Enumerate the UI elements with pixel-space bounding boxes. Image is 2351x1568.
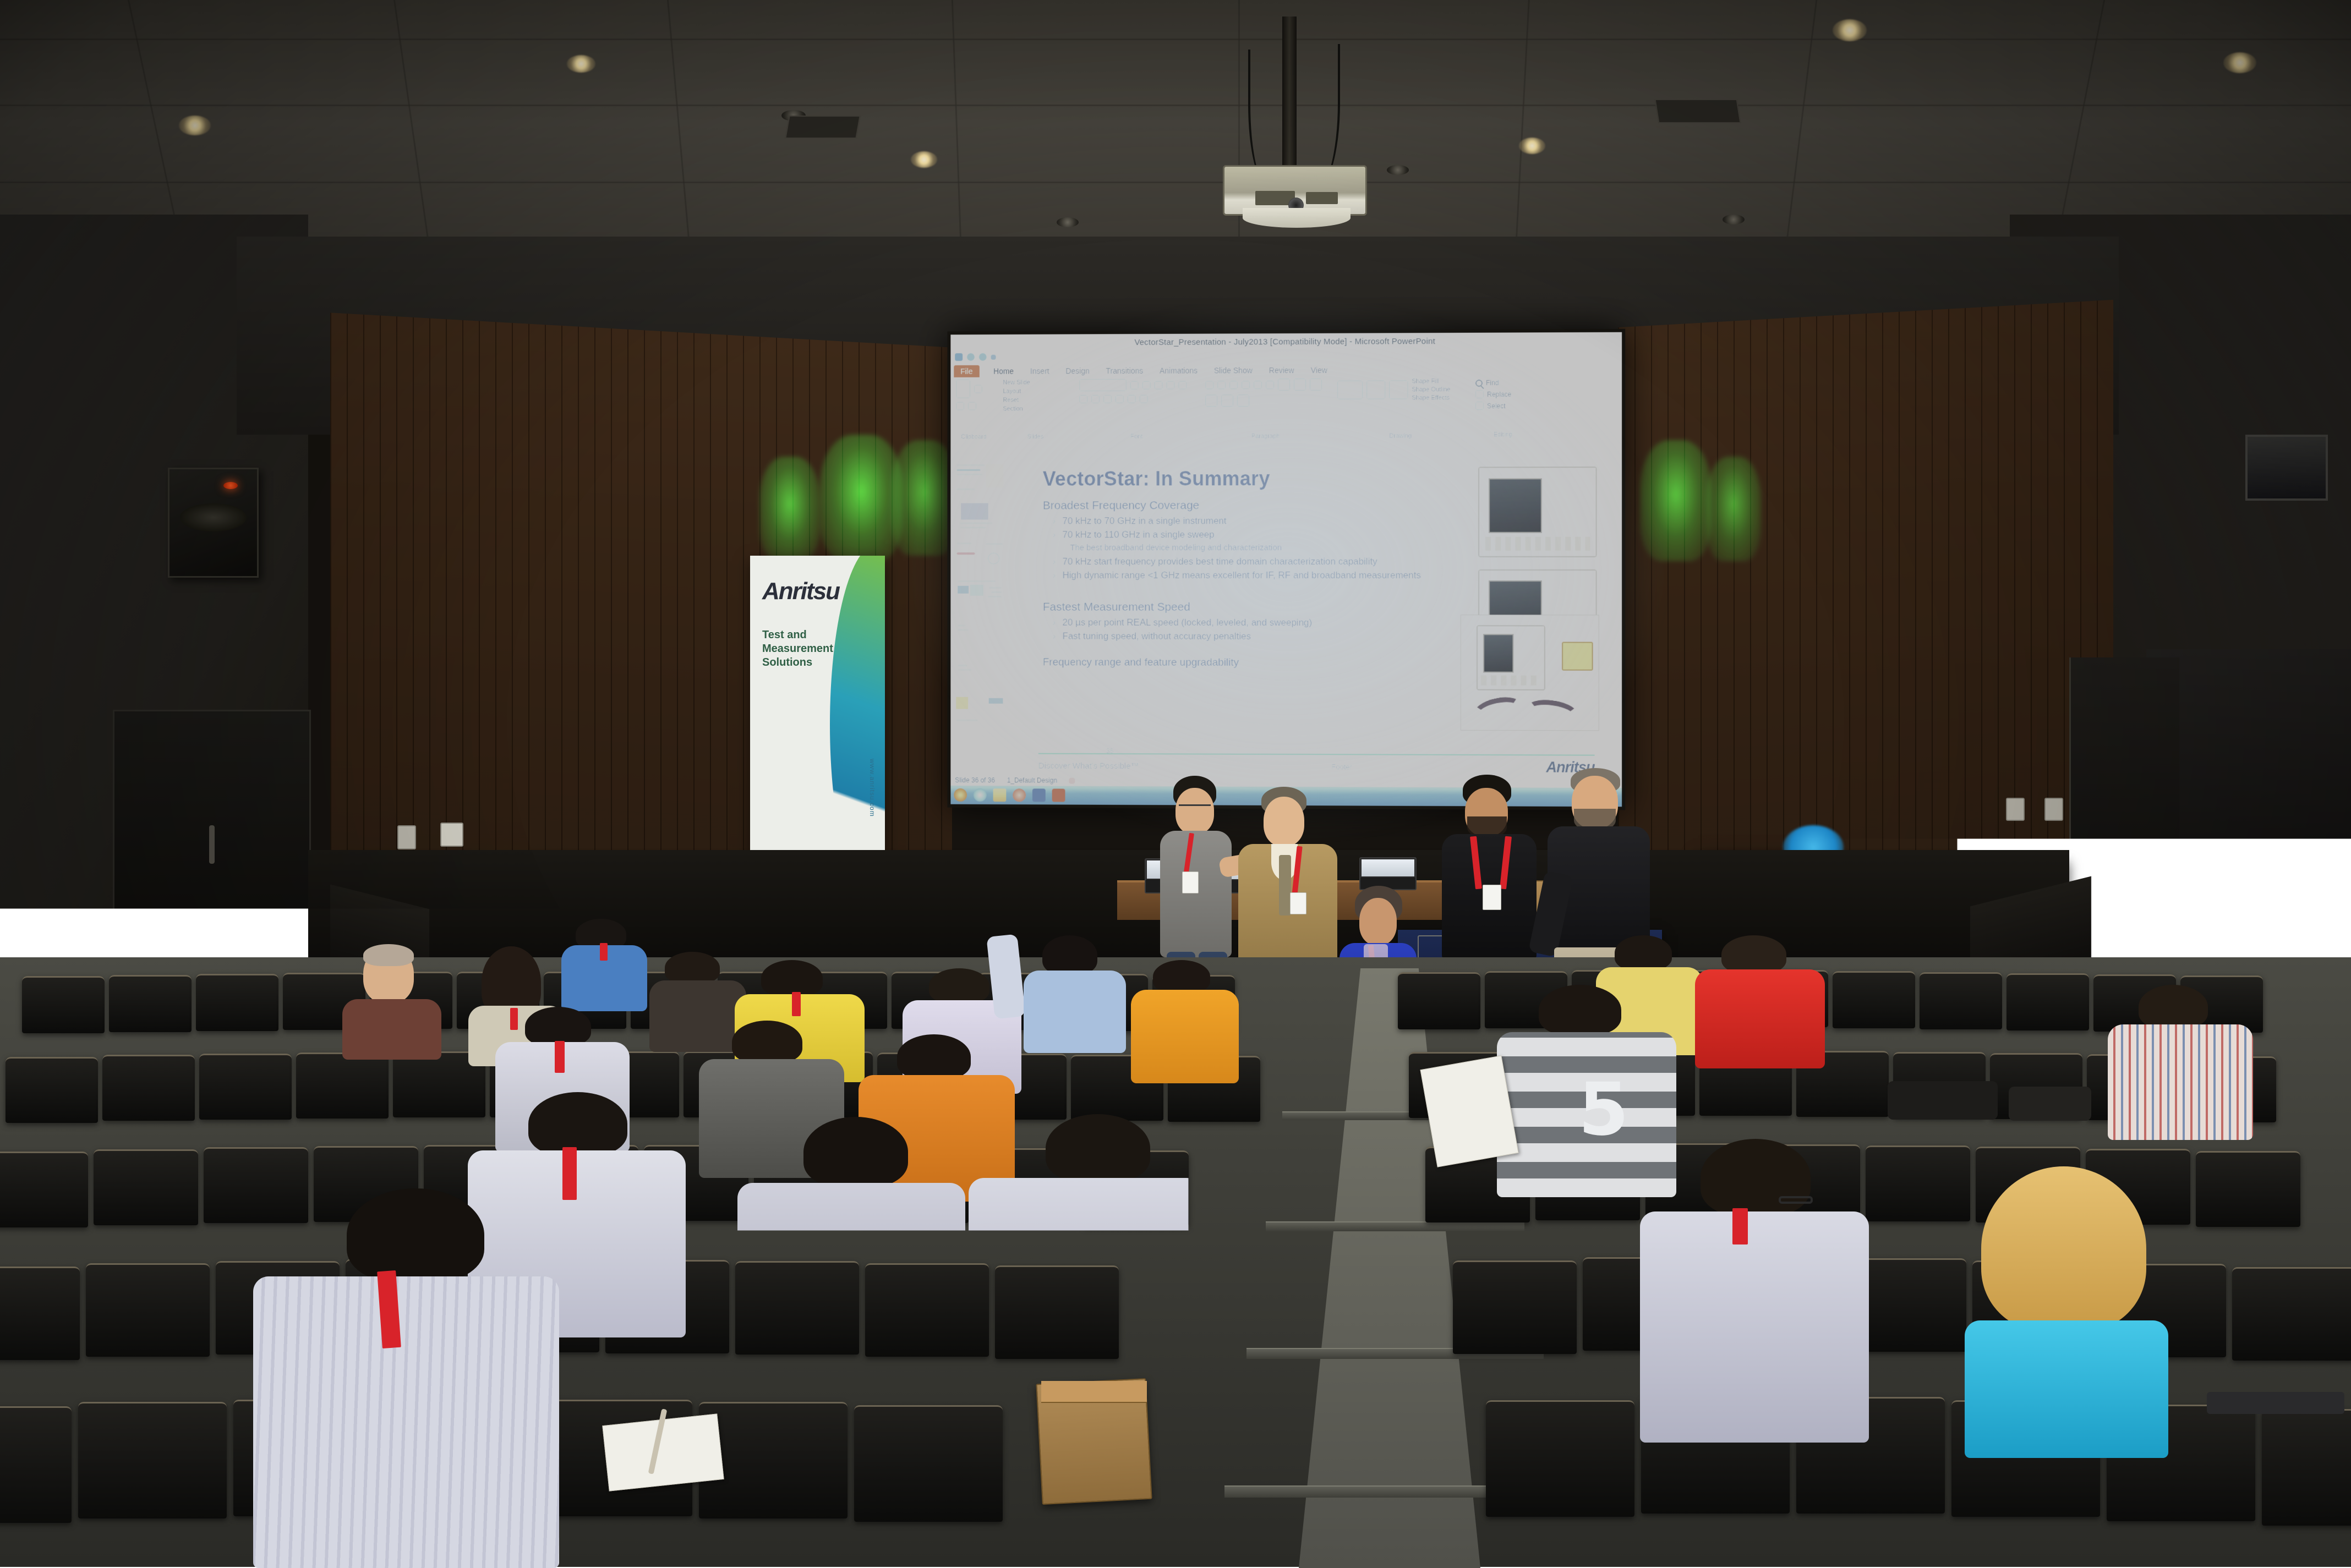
instrument-display [1489, 479, 1542, 534]
slide-thumbnail[interactable] [953, 538, 1007, 572]
hair [1042, 935, 1097, 975]
green-light-reflection [820, 435, 903, 561]
ribbon-group-label: Clipboard [956, 434, 991, 440]
ribbon-group-label: Drawing [1337, 432, 1464, 440]
tab-animations[interactable]: Animations [1157, 365, 1200, 377]
font-color-icon[interactable] [1140, 395, 1148, 403]
powerpoint-title-bar: VectorStar_Presentation - July2013 [Comp… [950, 332, 1622, 351]
hair [761, 960, 823, 996]
instrument-ports [1485, 537, 1590, 551]
hair [1153, 960, 1210, 993]
seat[interactable] [2262, 1409, 2351, 1526]
cut-icon[interactable] [974, 385, 982, 393]
laptop[interactable] [1359, 857, 1417, 890]
projection-screen: VectorStar_Presentation - July2013 [Comp… [947, 329, 1625, 810]
seat[interactable] [854, 1405, 1003, 1522]
ceiling-downlight [1387, 165, 1409, 175]
head [1264, 797, 1304, 846]
spellcheck-icon[interactable] [1069, 777, 1075, 783]
format-painter-icon[interactable] [968, 402, 976, 410]
test-cable [1524, 697, 1580, 728]
calibration-kit [1562, 642, 1593, 671]
test-cable [1471, 693, 1525, 727]
quick-styles-icon[interactable] [1389, 380, 1408, 399]
underline-icon[interactable] [1079, 395, 1087, 403]
lanyard [555, 1041, 565, 1073]
wood-paneling-right [1618, 300, 2113, 889]
lanyard [562, 1147, 577, 1200]
redo-icon[interactable] [979, 353, 987, 361]
ceiling-light [179, 116, 211, 135]
speaker-cone [180, 503, 247, 531]
anritsu-light-banner: Anritsu Test and Measurement Solutions w… [750, 556, 885, 856]
papers-on-table[interactable] [32, 930, 98, 946]
outlook-icon[interactable] [1032, 788, 1046, 802]
seat[interactable] [2006, 973, 2089, 1030]
tab-view[interactable]: View [1309, 364, 1330, 376]
seat[interactable] [0, 1406, 72, 1523]
instrument-keypad [1514, 634, 1540, 673]
audience-member [1695, 935, 1827, 1073]
hair [1539, 985, 1621, 1035]
cabinet-handle[interactable] [209, 825, 215, 864]
shapes-gallery-icon[interactable] [1337, 381, 1363, 399]
badge [1290, 892, 1306, 914]
slide-thumbnail[interactable] [953, 460, 1007, 494]
chevron-down-icon[interactable] [991, 354, 996, 359]
ribbon-group-editing[interactable]: Find Replace Select Editing [1470, 376, 1537, 442]
wall-outlet-right[interactable] [2044, 798, 2063, 821]
lanyard [1732, 1208, 1748, 1244]
head [1359, 898, 1397, 945]
replace-button[interactable]: Replace [1475, 390, 1530, 398]
seat[interactable] [1920, 972, 2002, 1029]
tab-design[interactable]: Design [1063, 365, 1091, 377]
footer-placeholder: Footer [1287, 761, 1397, 773]
ceiling-light [2223, 52, 2256, 73]
slide-thumbnail[interactable] [953, 693, 1007, 727]
hair [1721, 935, 1786, 974]
tab-insert[interactable]: Insert [1028, 365, 1052, 377]
undo-icon[interactable] [967, 353, 975, 361]
shape-effects-label[interactable]: Shape Effects [1412, 394, 1450, 401]
ribbon-group-label: Paragraph [1205, 433, 1326, 440]
wall-outlet[interactable] [397, 825, 416, 849]
glasses-icon [1179, 804, 1211, 810]
auditorium-scene: VectorStar_Presentation - July2013 [Comp… [0, 0, 2351, 1567]
hair [1615, 935, 1672, 971]
torso [1640, 1211, 1869, 1443]
speaker-power-led [223, 482, 238, 489]
find-label: Find [1486, 379, 1499, 387]
lanyard [600, 943, 608, 961]
audience-member-foreground [737, 1117, 969, 1392]
laptop-on-seat[interactable] [2207, 1392, 2344, 1414]
audience-member [2108, 985, 2256, 1144]
section-label[interactable]: Section [1003, 405, 1023, 412]
shrink-font-icon[interactable] [1155, 381, 1163, 389]
green-light-reflection [1640, 440, 1712, 561]
bag-on-seat[interactable] [2009, 1087, 2091, 1121]
seat[interactable] [1486, 1400, 1634, 1517]
shape-fill-label[interactable]: Shape Fill [1412, 378, 1450, 385]
italic-icon[interactable] [1178, 381, 1187, 389]
instrument-display [1483, 634, 1514, 673]
current-slide[interactable]: VectorStar: In Summary Broadest Frequenc… [1024, 452, 1610, 782]
torso [1131, 990, 1239, 1083]
ribbon-group-font[interactable]: Font [1074, 376, 1200, 442]
numbering-icon[interactable] [1217, 381, 1226, 389]
browser-icon[interactable] [974, 788, 987, 802]
badge [1182, 871, 1199, 893]
torso [342, 999, 441, 1060]
torso [1160, 831, 1232, 957]
bold-icon[interactable] [1166, 381, 1174, 389]
glasses-icon [1779, 1196, 1813, 1204]
shadow-icon[interactable] [1091, 395, 1100, 403]
hair [929, 968, 989, 1004]
ribbon-group-label: Editing [1475, 431, 1530, 438]
seat[interactable] [1453, 1260, 1577, 1354]
wall-outlet-right[interactable] [2006, 798, 2025, 821]
seat[interactable] [1398, 972, 1480, 1029]
ribbon[interactable]: Clipboard New Slide Layout Reset Section… [950, 375, 1622, 443]
audience-member [1024, 935, 1128, 1062]
seat[interactable] [86, 1263, 210, 1357]
powerpoint-icon[interactable] [1052, 789, 1065, 802]
media-icon[interactable] [1013, 788, 1026, 802]
head [1175, 788, 1214, 834]
seat[interactable] [0, 1152, 88, 1227]
slide-counter: Slide 36 of 36 [955, 776, 995, 784]
search-icon [1475, 379, 1483, 386]
select-icon [1475, 402, 1484, 410]
start-orb-icon[interactable] [954, 788, 967, 802]
tab-transitions[interactable]: Transitions [1104, 365, 1146, 377]
wall-speaker [168, 468, 259, 578]
thumbnail-pane-header [953, 446, 1007, 455]
instrument-front [1477, 625, 1545, 690]
green-light-reflection [1706, 457, 1761, 561]
wall-outlet[interactable] [440, 823, 463, 847]
ceiling-downlight [1057, 217, 1079, 227]
theme-name: 1_Default Design [1007, 776, 1057, 784]
seat[interactable] [296, 1052, 389, 1119]
green-light-reflection [759, 457, 820, 561]
audience-member-foreground [969, 1114, 1205, 1400]
strikethrough-icon[interactable] [1103, 395, 1112, 403]
ceiling-downlight [1723, 215, 1745, 224]
ceiling-light [1833, 19, 1867, 41]
projected-desktop: VectorStar_Presentation - July2013 [Comp… [950, 332, 1622, 807]
bullets-icon[interactable] [1205, 381, 1213, 389]
laptop-screen [1360, 858, 1415, 878]
tab-review[interactable]: Review [1267, 364, 1297, 376]
ribbon-group-drawing[interactable]: Shape Fill Shape Outline Shape Effects D… [1332, 376, 1470, 442]
hair [1046, 1114, 1150, 1182]
align-center-icon[interactable] [1294, 379, 1306, 391]
hair [897, 1034, 971, 1079]
lanyard [792, 992, 801, 1016]
hair [1701, 1139, 1811, 1216]
hair [347, 1188, 484, 1282]
reset-label[interactable]: Reset [1003, 397, 1018, 403]
torso [1695, 969, 1825, 1068]
seat[interactable] [6, 1057, 98, 1123]
tab-file[interactable]: File [954, 365, 979, 377]
badge [1483, 885, 1501, 910]
hair [528, 1092, 627, 1156]
seat[interactable] [199, 1054, 292, 1120]
ribbon-group-label: Slides [1003, 434, 1068, 440]
justify-icon[interactable] [1205, 394, 1217, 407]
hair [363, 944, 414, 966]
audience-member-blonde [1948, 1166, 2179, 1463]
instrument-ports [1481, 676, 1541, 686]
audience-member-nearest [253, 1188, 561, 1568]
ribbon-group-clipboard[interactable]: Clipboard [950, 377, 997, 443]
copy-icon[interactable] [956, 402, 964, 410]
ribbon-group-paragraph[interactable]: Paragraph [1200, 376, 1332, 442]
change-case-icon[interactable] [1128, 395, 1136, 403]
seat[interactable] [2196, 1151, 2300, 1227]
select-button[interactable]: Select [1475, 402, 1530, 410]
text-direction-icon[interactable] [1266, 381, 1274, 389]
seat[interactable] [2232, 1267, 2351, 1361]
align-right-icon[interactable] [1310, 379, 1322, 391]
slide-thumbnail[interactable] [953, 499, 1007, 533]
ceiling-light [911, 151, 937, 168]
arrange-icon[interactable] [1366, 380, 1385, 399]
torso [2108, 1024, 2253, 1140]
torso [1024, 971, 1126, 1053]
paper-bag-fold [1041, 1381, 1147, 1403]
font-name-icon[interactable] [1079, 379, 1126, 391]
torso [1965, 1320, 2168, 1458]
replace-icon [1475, 390, 1484, 398]
ribbon-tab-bar[interactable]: File Home Insert Design Transitions Anim… [950, 361, 1622, 377]
ribbon-group-label: Font [1079, 433, 1194, 440]
tab-slide-show[interactable]: Slide Show [1212, 364, 1255, 376]
jersey-number: 5 [1578, 1068, 1639, 1151]
anritsu-banner-url: www.anritsu.com [868, 759, 876, 817]
instrument-keypad [1543, 478, 1590, 533]
ribbon-group-slides[interactable]: New Slide Layout Reset Section Slides [997, 377, 1074, 442]
seat[interactable] [94, 1149, 198, 1225]
hair [732, 1021, 802, 1063]
seat[interactable] [196, 974, 278, 1031]
torso [737, 1183, 965, 1386]
hair [803, 1117, 908, 1187]
hair-blonde [1981, 1166, 2146, 1331]
seat-row-right-4 [1453, 1252, 2351, 1362]
projector-ports [1306, 192, 1338, 204]
columns-icon[interactable] [1221, 394, 1233, 407]
tab-home[interactable]: Home [991, 365, 1016, 377]
right-monitor [2245, 435, 2328, 501]
align-left-icon[interactable] [1278, 379, 1290, 391]
vna-instrument-photo-cables [1461, 615, 1599, 731]
audience-member [1131, 960, 1241, 1092]
find-button[interactable]: Find [1475, 379, 1530, 387]
window-title-text: VectorStar_Presentation - July2013 [Comp… [1134, 336, 1435, 347]
select-label: Select [1487, 402, 1506, 409]
handout-paper[interactable] [1420, 1055, 1519, 1167]
seat[interactable] [0, 1267, 80, 1360]
grow-font-icon[interactable] [1142, 381, 1151, 389]
seat[interactable] [1833, 971, 1915, 1028]
hair [2139, 985, 2208, 1029]
paste-icon[interactable] [956, 380, 970, 398]
slide-thumbnail[interactable] [953, 654, 1007, 688]
font-size-icon[interactable] [1130, 381, 1139, 389]
line-spacing-icon[interactable] [1254, 381, 1262, 389]
layout-label[interactable]: Layout [1003, 388, 1021, 394]
projector-mount-pole [1282, 17, 1297, 171]
slide-footer: Discover What's Possible™ Footer Anritsu [1038, 753, 1595, 776]
bag-on-seat[interactable] [1888, 1081, 1998, 1120]
decrease-indent-icon[interactable] [1229, 381, 1238, 389]
folder-icon[interactable] [993, 788, 1007, 802]
seat[interactable] [102, 1055, 195, 1121]
character-spacing-icon[interactable] [1116, 395, 1124, 403]
shape-outline-label[interactable]: Shape Outline [1412, 386, 1450, 393]
ceiling-vent [1655, 99, 1741, 123]
torso [253, 1276, 559, 1568]
ceiling-vent [785, 116, 860, 139]
audience-member [341, 946, 446, 1051]
necktie [1279, 855, 1291, 915]
audience-member-foreground [1640, 1139, 1871, 1447]
seat[interactable] [78, 1402, 227, 1518]
projector-front-shroud [1243, 208, 1351, 228]
increase-indent-icon[interactable] [1242, 381, 1250, 389]
hair [665, 952, 720, 984]
slide-tagline: Discover What's Possible™ [1038, 761, 1139, 771]
slide-thumbnail[interactable] [953, 577, 1007, 611]
slide-thumbnail[interactable] [953, 616, 1007, 650]
powerpoint-workspace: VectorStar: In Summary Broadest Frequenc… [950, 442, 1622, 788]
replace-label: Replace [1487, 390, 1511, 398]
convert-smartart-icon[interactable] [1237, 394, 1249, 407]
slide-editing-area[interactable]: VectorStar: In Summary Broadest Frequenc… [1009, 442, 1622, 788]
slide-thumbnail-pane[interactable] [950, 443, 1009, 786]
vna-instrument-photo-top [1478, 467, 1597, 557]
ceiling-light [567, 55, 595, 73]
save-icon[interactable] [955, 353, 963, 361]
ceiling-light [1519, 138, 1545, 154]
new-slide-label[interactable]: New Slide [1003, 379, 1030, 386]
